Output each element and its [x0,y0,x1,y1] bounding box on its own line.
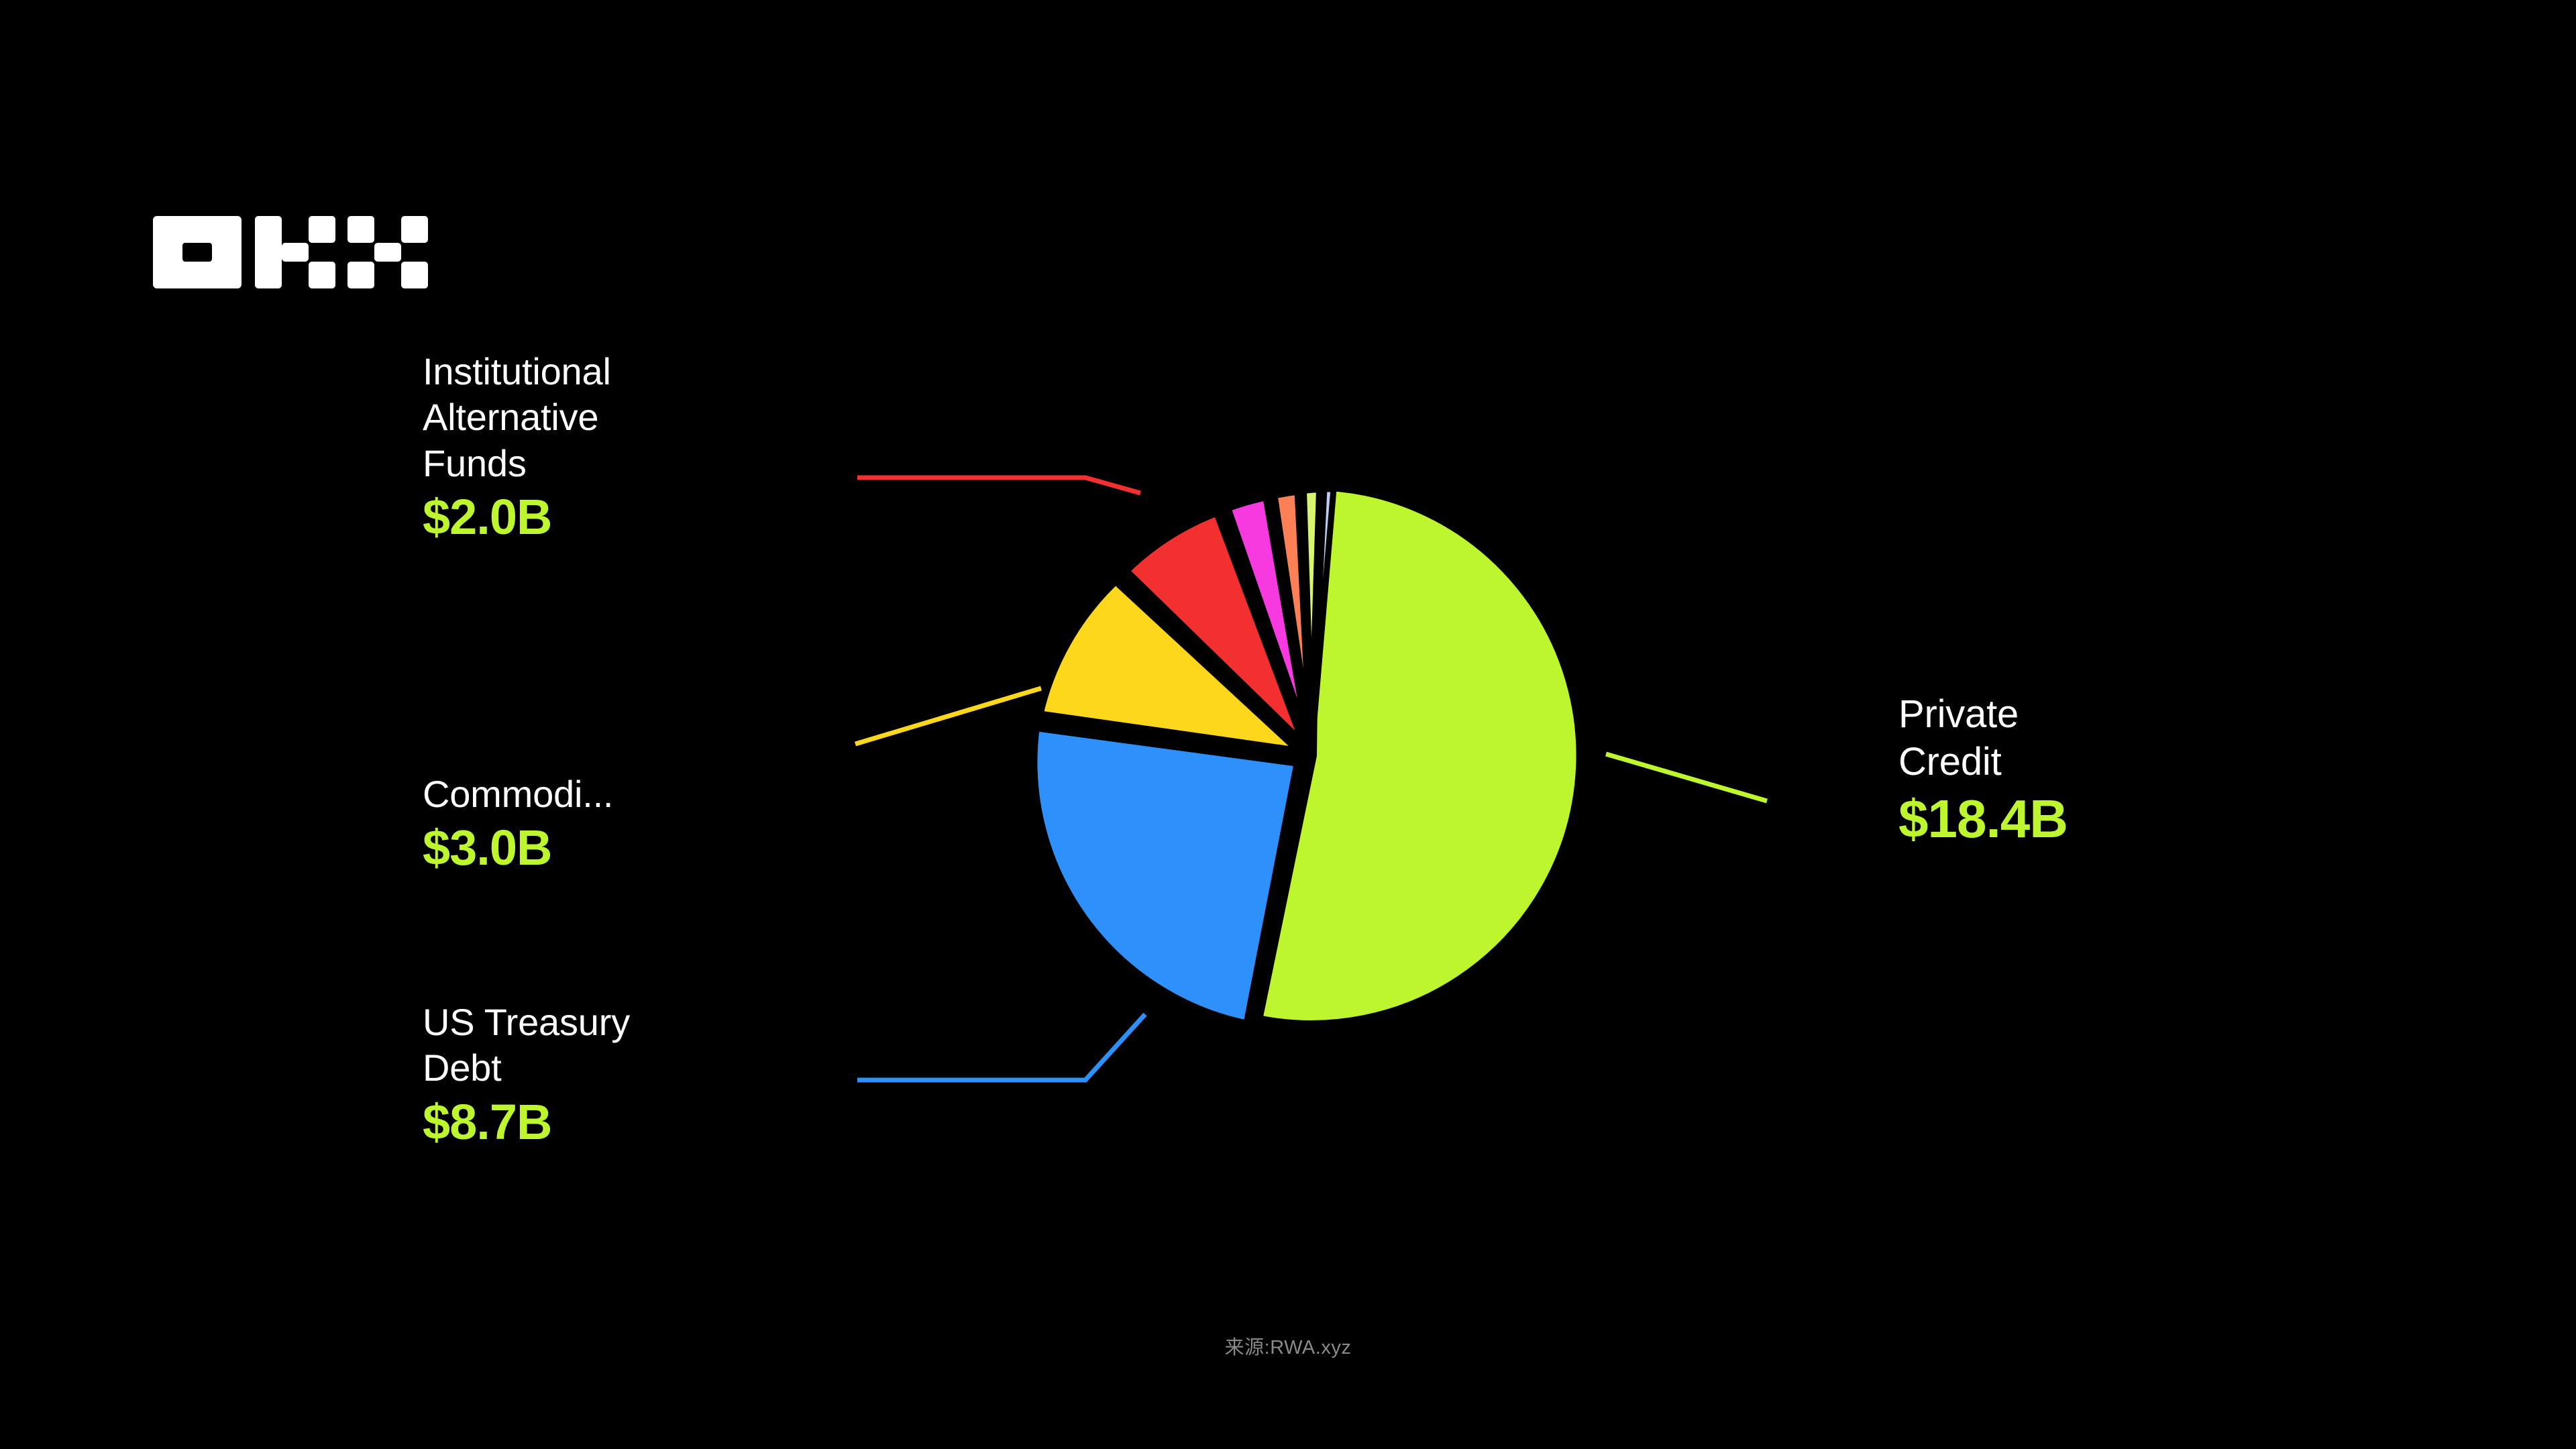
okx-logo-mark [153,209,435,295]
okx-logo [153,209,435,295]
callout-value-commodities: $3.0B [423,818,613,877]
callout-commodities[interactable]: Commodi... $3.0B [423,771,613,877]
pie-slice-corporate-bonds[interactable] [1274,491,1311,745]
pie-slice-institutional-alternative-funds[interactable] [1124,511,1307,749]
pie-slice-public-equity[interactable] [1303,489,1320,744]
callout-institutional-alternative-funds[interactable]: Institutional Alternative Funds $2.0B [423,349,611,546]
pie-slice-us-treasury-debt[interactable] [1032,727,1299,1025]
callout-label-institutional-alternative-funds: Institutional Alternative Funds [423,349,611,486]
callout-label-private-credit: Private Credit [1898,691,2328,786]
callout-value-institutional-alternative-funds: $2.0B [423,488,611,546]
pie-slice-private-credit[interactable] [1258,486,1581,1025]
leader-line-us-treasury-debt [857,1014,1145,1080]
callout-label-commodities: Commodi... [423,771,613,817]
callout-us-treasury-debt[interactable]: US Treasury Debt $8.7B [423,1000,630,1151]
pie-slice-other[interactable] [1312,489,1334,743]
leader-line-commodities [855,688,1041,744]
callout-label-us-treasury-debt: US Treasury Debt [423,1000,630,1091]
pie-slice-non-us-government-debt[interactable] [1227,496,1309,746]
callout-private-credit[interactable]: Private Credit $18.4B [1898,691,2328,851]
leader-line-institutional-alternative-funds [857,478,1140,493]
callout-value-us-treasury-debt: $8.7B [423,1093,630,1151]
pie-slice-commodities[interactable] [1038,580,1303,753]
leader-line-private-credit [1606,754,1767,801]
source-note: 来源:RWA.xyz [0,1332,2576,1360]
callout-value-private-credit: $18.4B [1898,788,2328,851]
